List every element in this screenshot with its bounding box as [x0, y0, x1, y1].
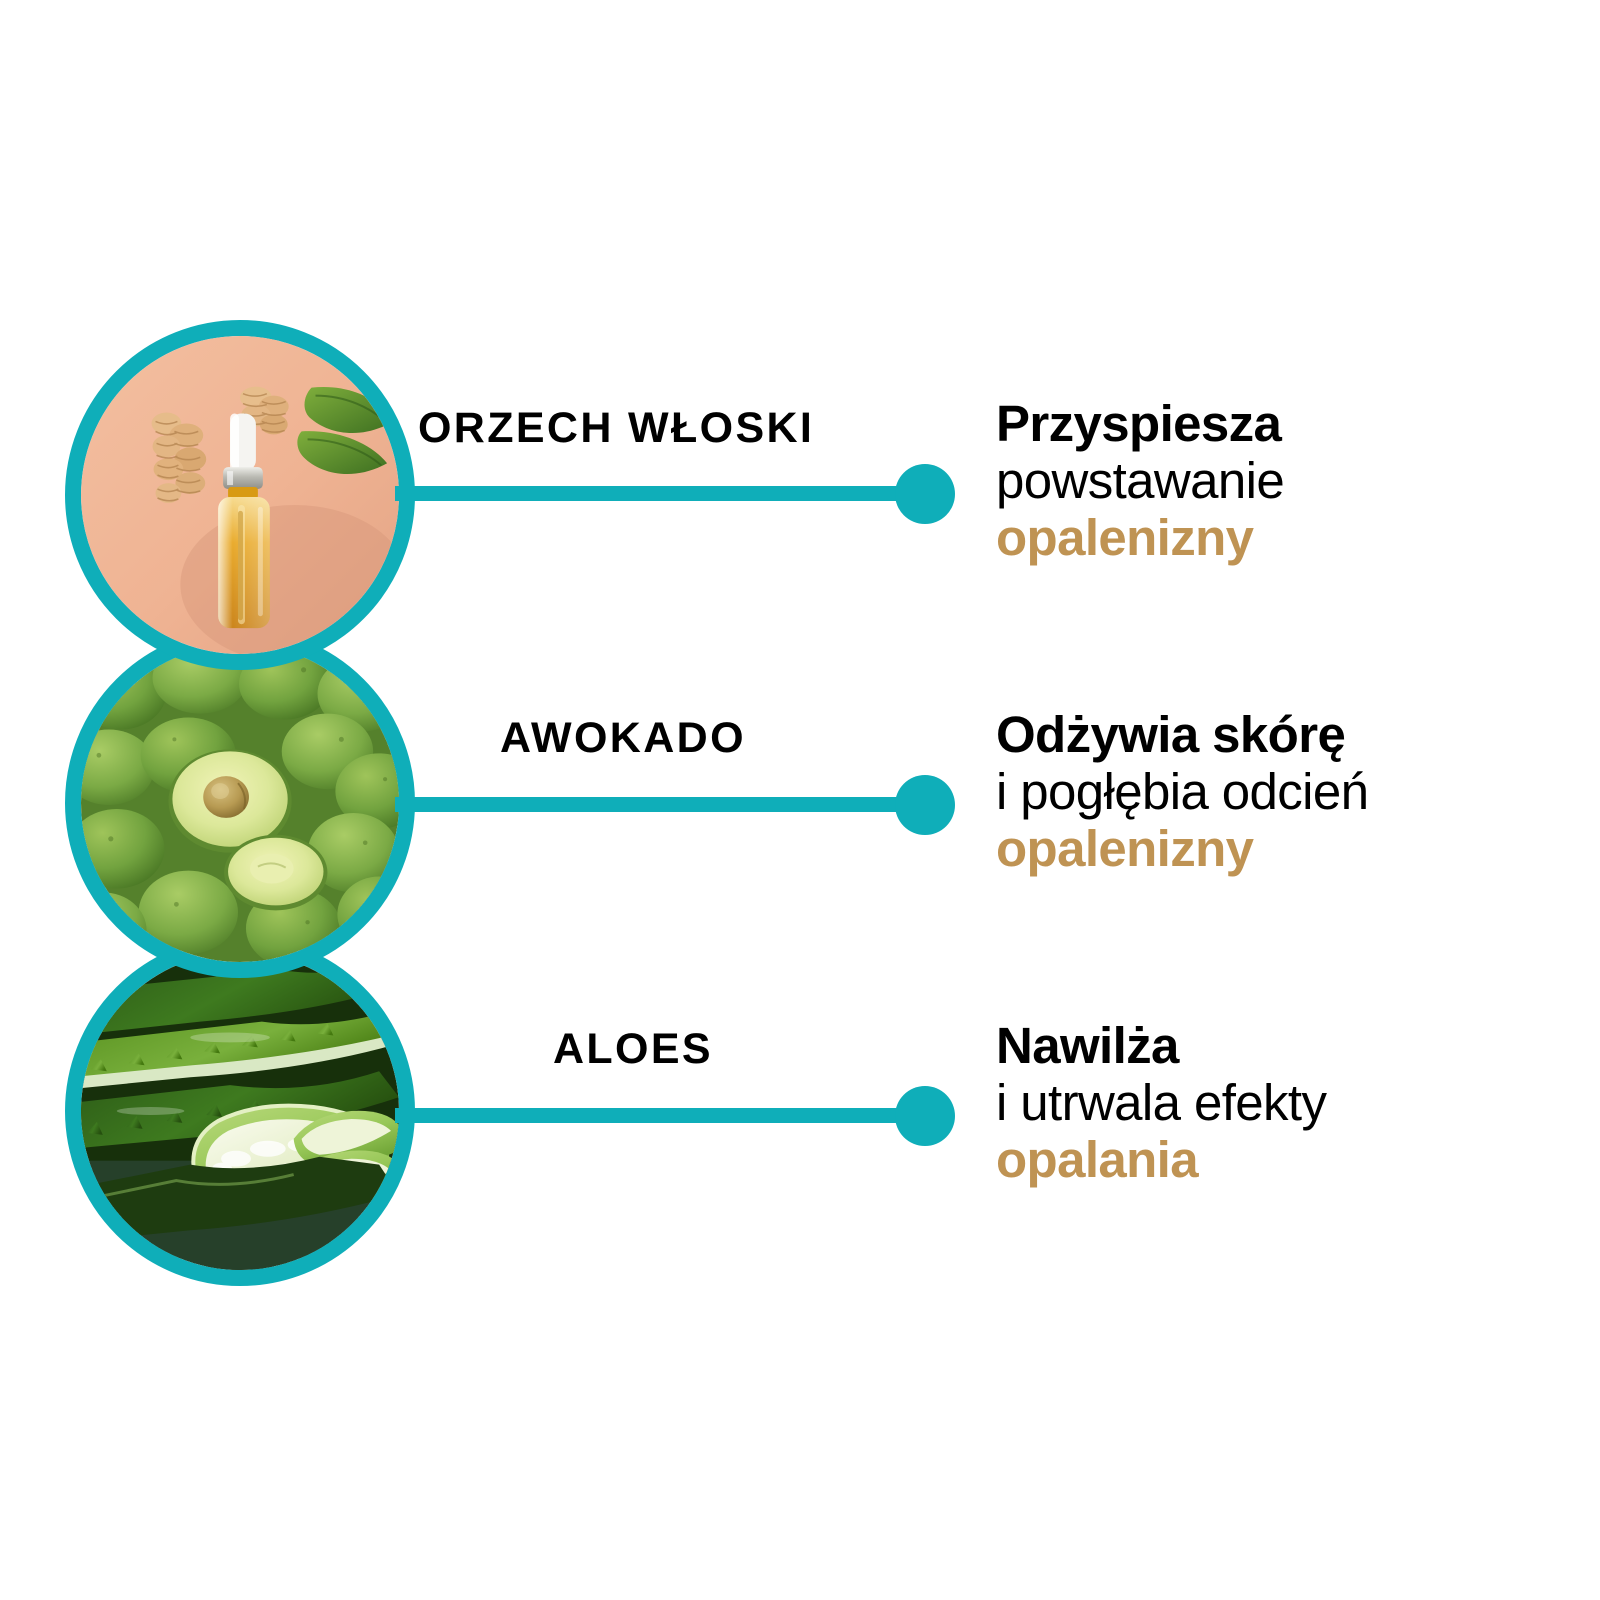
benefit-text-avocado: Odżywia skórę i pogłębia odcień opaleniz…	[996, 706, 1368, 877]
benefit-line-2: powstawanie	[996, 452, 1284, 509]
ingredient-label-avocado: AWOKADO	[500, 714, 746, 763]
connector-line-avocado	[395, 797, 925, 812]
benefit-line-1: Nawilża	[996, 1017, 1326, 1074]
connector-dot-walnut	[895, 464, 955, 524]
avocado-photo	[81, 644, 399, 962]
ingredient-image-aloe	[65, 936, 415, 1286]
benefit-line-3-highlight: opalenizny	[996, 509, 1284, 566]
ingredient-label-aloe: ALOES	[553, 1025, 713, 1074]
ingredient-label-walnut: ORZECH WŁOSKI	[418, 404, 814, 453]
ingredient-image-avocado	[65, 628, 415, 978]
walnut-oil-photo	[81, 336, 399, 654]
benefit-text-walnut: Przyspiesza powstawanie opalenizny	[996, 395, 1284, 566]
benefit-text-aloe: Nawilża i utrwala efekty opalania	[996, 1017, 1326, 1188]
connector-dot-aloe	[895, 1086, 955, 1146]
connector-dot-avocado	[895, 775, 955, 835]
infographic-canvas: ORZECH WŁOSKI Przyspiesza powstawanie op…	[0, 0, 1600, 1600]
benefit-line-1: Przyspiesza	[996, 395, 1284, 452]
benefit-line-2: i pogłębia odcień	[996, 763, 1368, 820]
ingredient-image-walnut	[65, 320, 415, 670]
benefit-line-3-highlight: opalenizny	[996, 820, 1368, 877]
connector-line-walnut	[395, 486, 925, 501]
aloe-vera-photo	[81, 952, 399, 1270]
benefit-line-2: i utrwala efekty	[996, 1074, 1326, 1131]
benefit-line-1: Odżywia skórę	[996, 706, 1368, 763]
connector-line-aloe	[395, 1108, 925, 1123]
benefit-line-3-highlight: opalania	[996, 1131, 1326, 1188]
